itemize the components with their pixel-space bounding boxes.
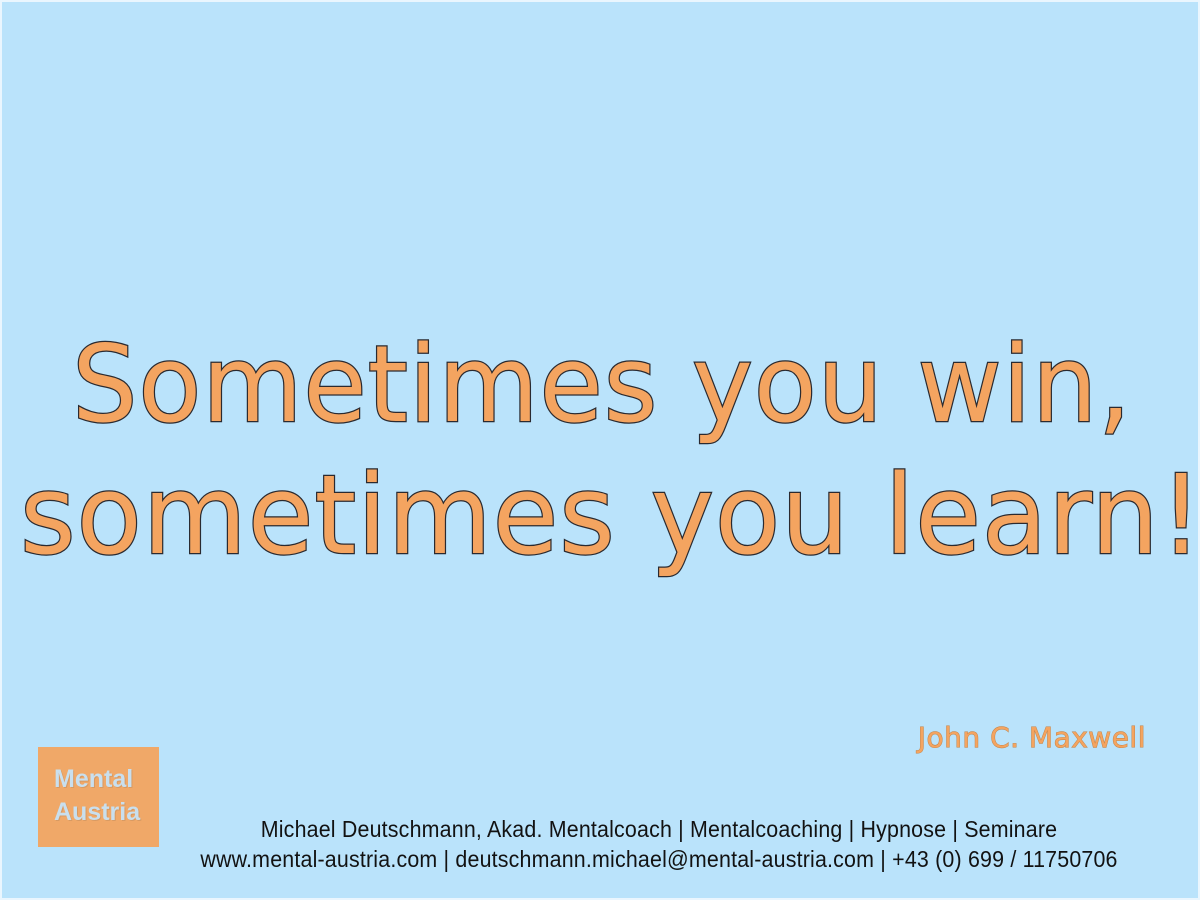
footer-line-contact: www.mental-austria.com | deutschmann.mic… <box>154 844 1164 875</box>
quote-line-1: Sometimes you win, <box>20 320 1184 450</box>
footer-line-services: Michael Deutschmann, Akad. Mentalcoach |… <box>154 814 1164 844</box>
quote-slide: Sometimes you win, sometimes you learn! … <box>0 0 1200 900</box>
quote-line-2: sometimes you learn! <box>20 450 1184 580</box>
quote-author: John C. Maxwell <box>918 722 1146 754</box>
quote-block: Sometimes you win, sometimes you learn! <box>2 320 1200 580</box>
logo-line-1: Mental <box>54 763 159 796</box>
footer-block: Michael Deutschmann, Akad. Mentalcoach |… <box>2 814 1200 875</box>
